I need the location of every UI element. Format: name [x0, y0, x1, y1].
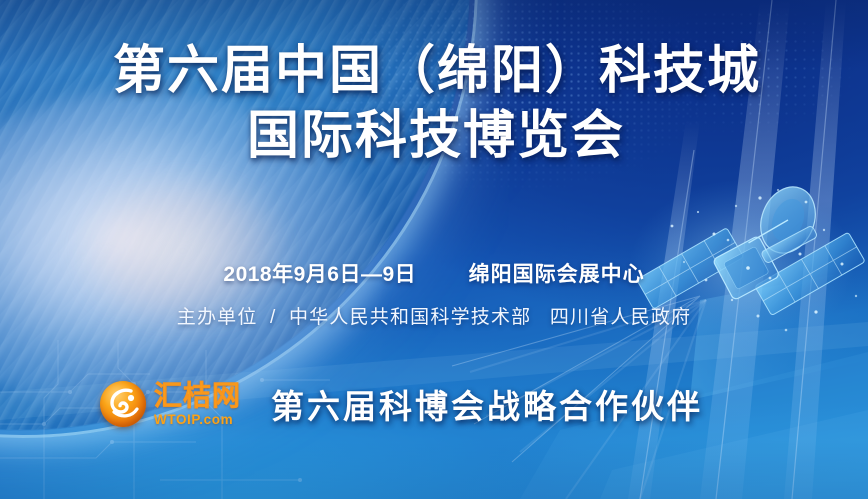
sponsor-row: 汇桔网 WTOIP.com 第六届科博会战略合作伙伴 [100, 380, 703, 428]
sponsor-tagline: 第六届科博会战略合作伙伴 [271, 380, 703, 428]
logo-name-cn: 汇桔网 [154, 382, 241, 410]
title-line-1: 第六届中国（绵阳）科技城 [0, 44, 868, 99]
logo-name-en: WTOIP.com [154, 413, 241, 427]
event-date: 2018年9月6日—9日 [223, 258, 416, 288]
event-venue: 绵阳国际会展中心 [469, 258, 645, 288]
organizer-province: 四川省人民政府 [550, 302, 691, 329]
wtoip-logo-icon [100, 381, 146, 427]
event-meta-row: 2018年9月6日—9日 绵阳国际会展中心 [0, 258, 868, 288]
banner-content: 第六届中国（绵阳）科技城 国际科技博览会 2018年9月6日—9日 绵阳国际会展… [0, 0, 868, 499]
organizer-ministry: 中华人民共和国科学技术部 [289, 302, 531, 329]
organizer-row: 主办单位 / 中华人民共和国科学技术部 四川省人民政府 [0, 302, 868, 329]
organizer-separator: / [270, 307, 276, 329]
wtoip-logo-text: 汇桔网 WTOIP.com [154, 382, 241, 427]
organizer-label: 主办单位 [177, 302, 258, 329]
title-block: 第六届中国（绵阳）科技城 国际科技博览会 [0, 44, 868, 164]
promotional-banner: 第六届中国（绵阳）科技城 国际科技博览会 2018年9月6日—9日 绵阳国际会展… [0, 0, 868, 499]
title-line-2: 国际科技博览会 [0, 109, 868, 164]
